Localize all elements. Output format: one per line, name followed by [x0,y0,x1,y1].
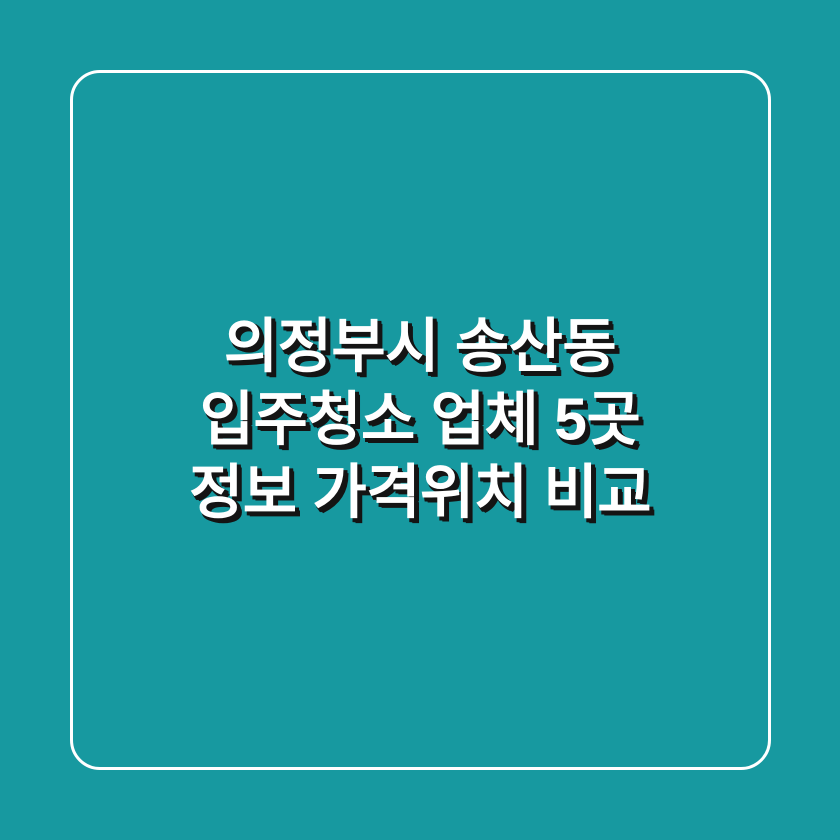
poster-canvas: 의정부시 송산동 입주청소 업체 5곳 정보 가격위치 비교 [0,0,840,840]
headline-line-3: 정보 가격위치 비교 [46,457,794,530]
headline-block: 의정부시 송산동 입주청소 업체 5곳 정보 가격위치 비교 [0,311,840,530]
headline-line-2: 입주청소 업체 5곳 [46,384,794,457]
headline-line-1: 의정부시 송산동 [46,311,794,384]
